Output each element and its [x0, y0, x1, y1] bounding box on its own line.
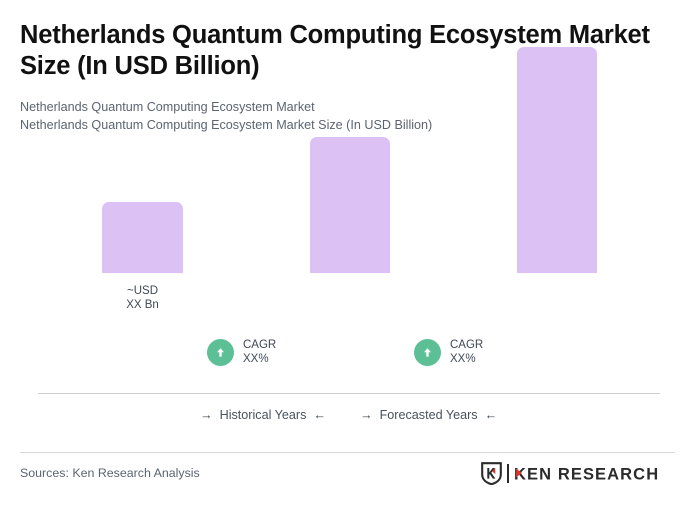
- arrow-left-icon: ←: [485, 408, 498, 422]
- bar-1: [102, 202, 183, 273]
- arrow-right-icon: →: [200, 408, 213, 422]
- arrow-left-icon: ←: [313, 408, 326, 422]
- logo-divider: [507, 464, 509, 483]
- chart-plot-area: ~USD XX Bn CAGR XX% ~USD 1.1 Bn CAGR XX%: [0, 0, 700, 400]
- bar-3: [517, 47, 597, 273]
- ken-research-wordmark: KEN RESEARCH: [514, 464, 666, 484]
- period-historical-label: Historical Years: [220, 408, 307, 422]
- ken-research-logo: KEN RESEARCH: [481, 462, 666, 485]
- bar-2: [310, 137, 390, 273]
- footer-divider: [20, 452, 675, 453]
- period-forecasted-label: Forecasted Years: [380, 408, 478, 422]
- cagr-label-2: CAGR XX%: [450, 338, 483, 366]
- arrow-right-icon: →: [360, 408, 373, 422]
- cagr-badge-1: CAGR XX%: [207, 338, 276, 366]
- period-forecasted: → Forecasted Years ←: [360, 408, 497, 422]
- bar-value-label-1: ~USD XX Bn: [102, 284, 183, 312]
- period-historical: → Historical Years ←: [200, 408, 326, 422]
- period-axis-labels: → Historical Years ← → Forecasted Years …: [38, 408, 660, 428]
- svg-text:KEN RESEARCH: KEN RESEARCH: [514, 465, 659, 483]
- sources-text: Sources: Ken Research Analysis: [20, 466, 200, 480]
- arrow-up-icon: [414, 339, 441, 366]
- cagr-label-1: CAGR XX%: [243, 338, 276, 366]
- axis-baseline: [38, 393, 660, 394]
- arrow-up-icon: [207, 339, 234, 366]
- chart-page: Netherlands Quantum Computing Ecosystem …: [0, 0, 700, 520]
- shield-logo-icon: [481, 462, 502, 485]
- cagr-badge-2: CAGR XX%: [414, 338, 483, 366]
